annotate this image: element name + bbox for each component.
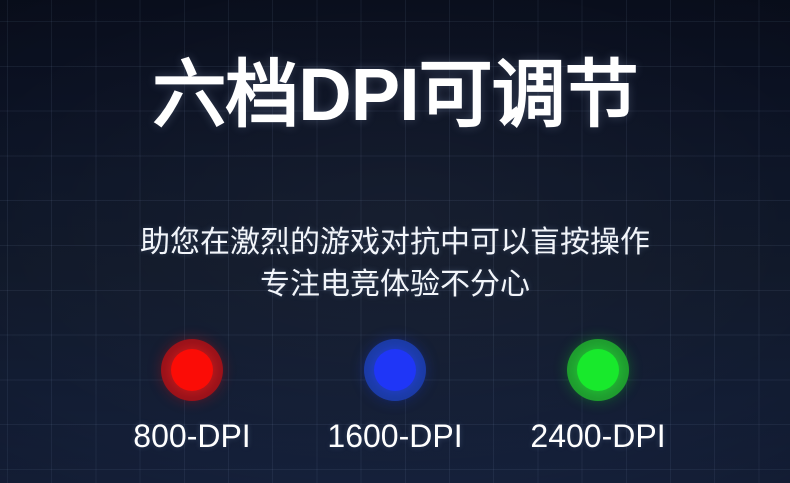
- dpi-level-list: 800-DPI 1600-DPI 2400-DPI: [0, 339, 790, 452]
- subtitle-line-2: 专注电竞体验不分心: [140, 264, 650, 307]
- led-core-red: [171, 349, 213, 391]
- promo-banner: 六档DPI可调节 助您在激烈的游戏对抗中可以盲按操作 专注电竞体验不分心 800…: [0, 0, 790, 483]
- dpi-level-item-2400[interactable]: 2400-DPI: [497, 339, 700, 452]
- subtitle-block: 助您在激烈的游戏对抗中可以盲按操作 专注电竞体验不分心: [140, 222, 650, 307]
- page-title: 六档DPI可调节: [152, 58, 637, 132]
- dpi-level-item-800[interactable]: 800-DPI: [91, 339, 294, 452]
- dpi-level-item-1600[interactable]: 1600-DPI: [294, 339, 497, 452]
- dpi-label-2400: 2400-DPI: [530, 420, 665, 452]
- led-core-green: [577, 349, 619, 391]
- dpi-label-1600: 1600-DPI: [327, 420, 462, 452]
- led-indicator-green: [567, 339, 629, 401]
- subtitle-line-1: 助您在激烈的游戏对抗中可以盲按操作: [140, 222, 650, 265]
- led-indicator-red: [161, 339, 223, 401]
- led-core-blue: [374, 349, 416, 391]
- led-indicator-blue: [364, 339, 426, 401]
- dpi-label-800: 800-DPI: [133, 420, 250, 452]
